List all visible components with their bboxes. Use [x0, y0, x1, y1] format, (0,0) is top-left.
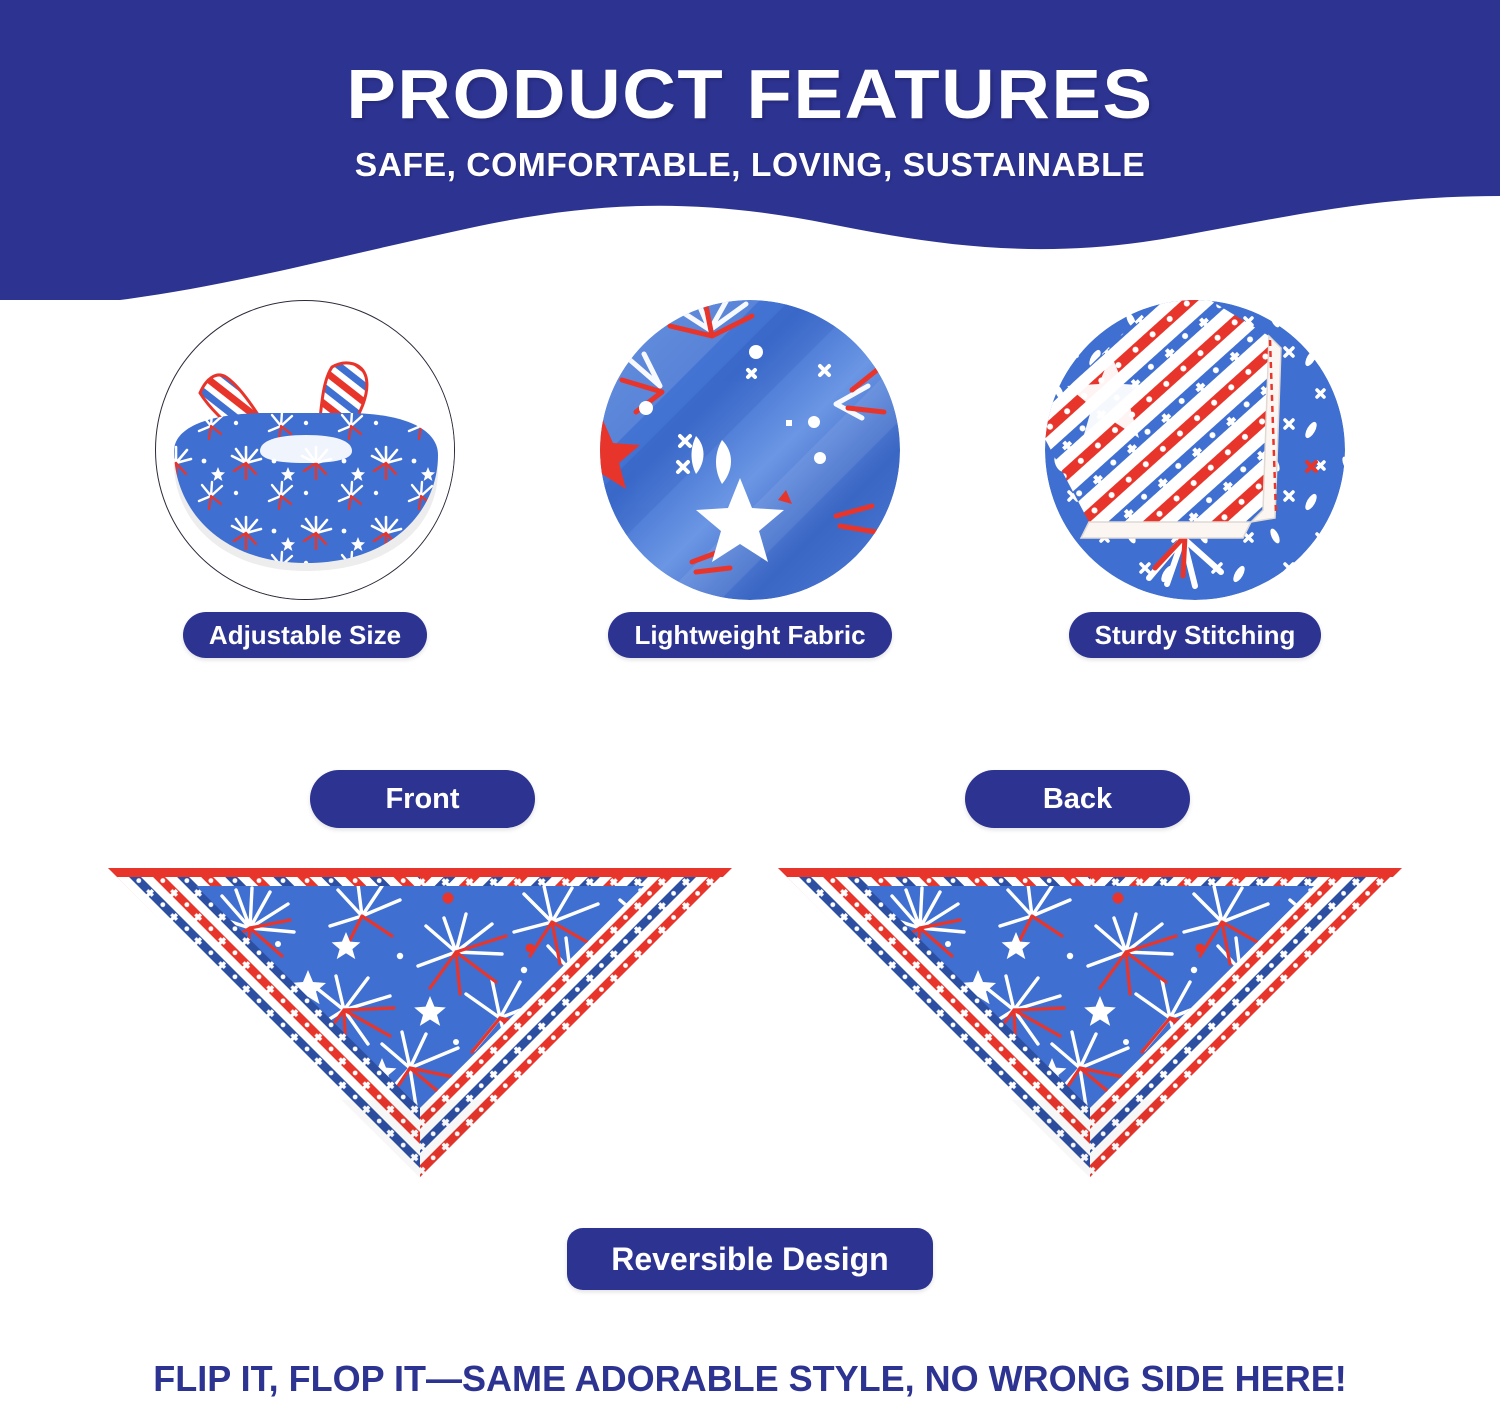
- stitched-corner-closeup-photo: [1045, 300, 1345, 600]
- feature-label-lightweight-fabric: Lightweight Fabric: [608, 612, 891, 658]
- label-back: Back: [965, 770, 1190, 828]
- feature-label-sturdy-stitching: Sturdy Stitching: [1069, 612, 1322, 658]
- feature-item-sturdy-stitching: Sturdy Stitching: [995, 300, 1395, 658]
- footer-tagline: FLIP IT, FLOP IT—SAME ADORABLE STYLE, NO…: [0, 1358, 1500, 1400]
- bandana-front-triangle-photo: [100, 860, 740, 1190]
- label-front: Front: [310, 770, 535, 828]
- side-label-row: Front Back: [0, 770, 1500, 832]
- bandana-tied-on-collar-photo: [155, 300, 455, 600]
- header-banner: PRODUCT FEATURES SAFE, COMFORTABLE, LOVI…: [0, 0, 1500, 300]
- bandana-back-triangle-photo: [770, 860, 1410, 1190]
- header-wave-shape: [0, 0, 1500, 300]
- feature-item-adjustable-size: Adjustable Size: [105, 300, 505, 658]
- reversible-badge-wrap: Reversible Design: [0, 1228, 1500, 1290]
- bandana-comparison-row: [0, 860, 1500, 1200]
- feature-label-adjustable-size: Adjustable Size: [183, 612, 427, 658]
- reversible-design-badge: Reversible Design: [567, 1228, 932, 1290]
- feature-row: Adjustable Size: [0, 300, 1500, 665]
- feature-item-lightweight-fabric: Lightweight Fabric: [550, 300, 950, 658]
- folded-fabric-closeup-photo: [600, 300, 900, 600]
